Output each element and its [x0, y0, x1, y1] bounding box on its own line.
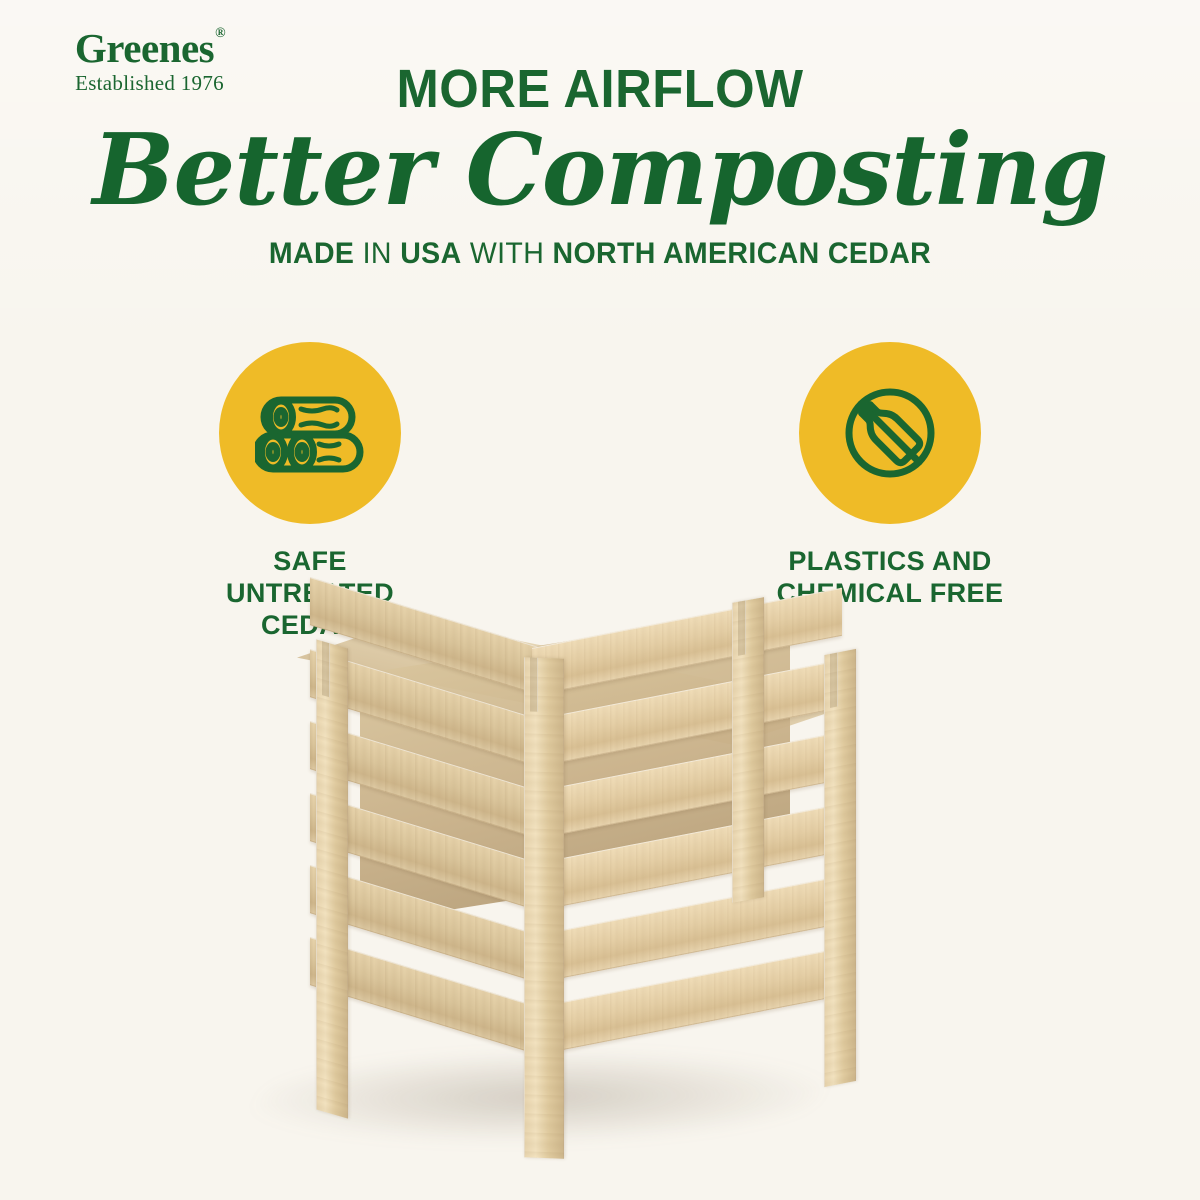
bin-post-right [824, 649, 856, 1087]
headline-script: Better Composting [6, 120, 1194, 223]
badge-circle-cedar [219, 342, 401, 524]
badge-circle-no-plastic [799, 342, 981, 524]
subline-word-cedar: NORTH AMERICAN CEDAR [553, 237, 932, 270]
subline-word-made: MADE [269, 237, 354, 270]
post-notch [530, 658, 538, 712]
cedar-compost-bin [300, 600, 900, 1160]
post-notch [322, 641, 330, 697]
bin-post-center [524, 657, 564, 1158]
headline-kicker: MORE AIRFLOW [36, 62, 1164, 116]
product-image [0, 600, 1200, 1180]
headline-block: MORE AIRFLOW Better Composting MADE IN U… [0, 62, 1200, 271]
subline-word-with: WITH [470, 237, 544, 270]
post-notch [738, 600, 746, 655]
bin-panel-front [532, 582, 842, 1094]
subline-word-in: IN [363, 237, 392, 270]
no-plastic-bottle-icon [834, 377, 946, 489]
log-stack-icon [255, 390, 365, 476]
feature-badge-row: SAFE UNTREATED CEDAR [0, 342, 1200, 642]
bin-post-back [732, 597, 764, 903]
subline-word-usa: USA [400, 237, 461, 270]
feature-label-line-1: PLASTICS AND [740, 546, 1040, 578]
product-marketing-banner: Greenes® Established 1976 MORE AIRFLOW B… [0, 0, 1200, 1200]
registered-trademark-icon: ® [215, 26, 225, 41]
post-notch [830, 652, 838, 708]
bin-post-left [316, 639, 348, 1118]
headline-subline: MADE IN USA WITH NORTH AMERICAN CEDAR [30, 237, 1170, 271]
